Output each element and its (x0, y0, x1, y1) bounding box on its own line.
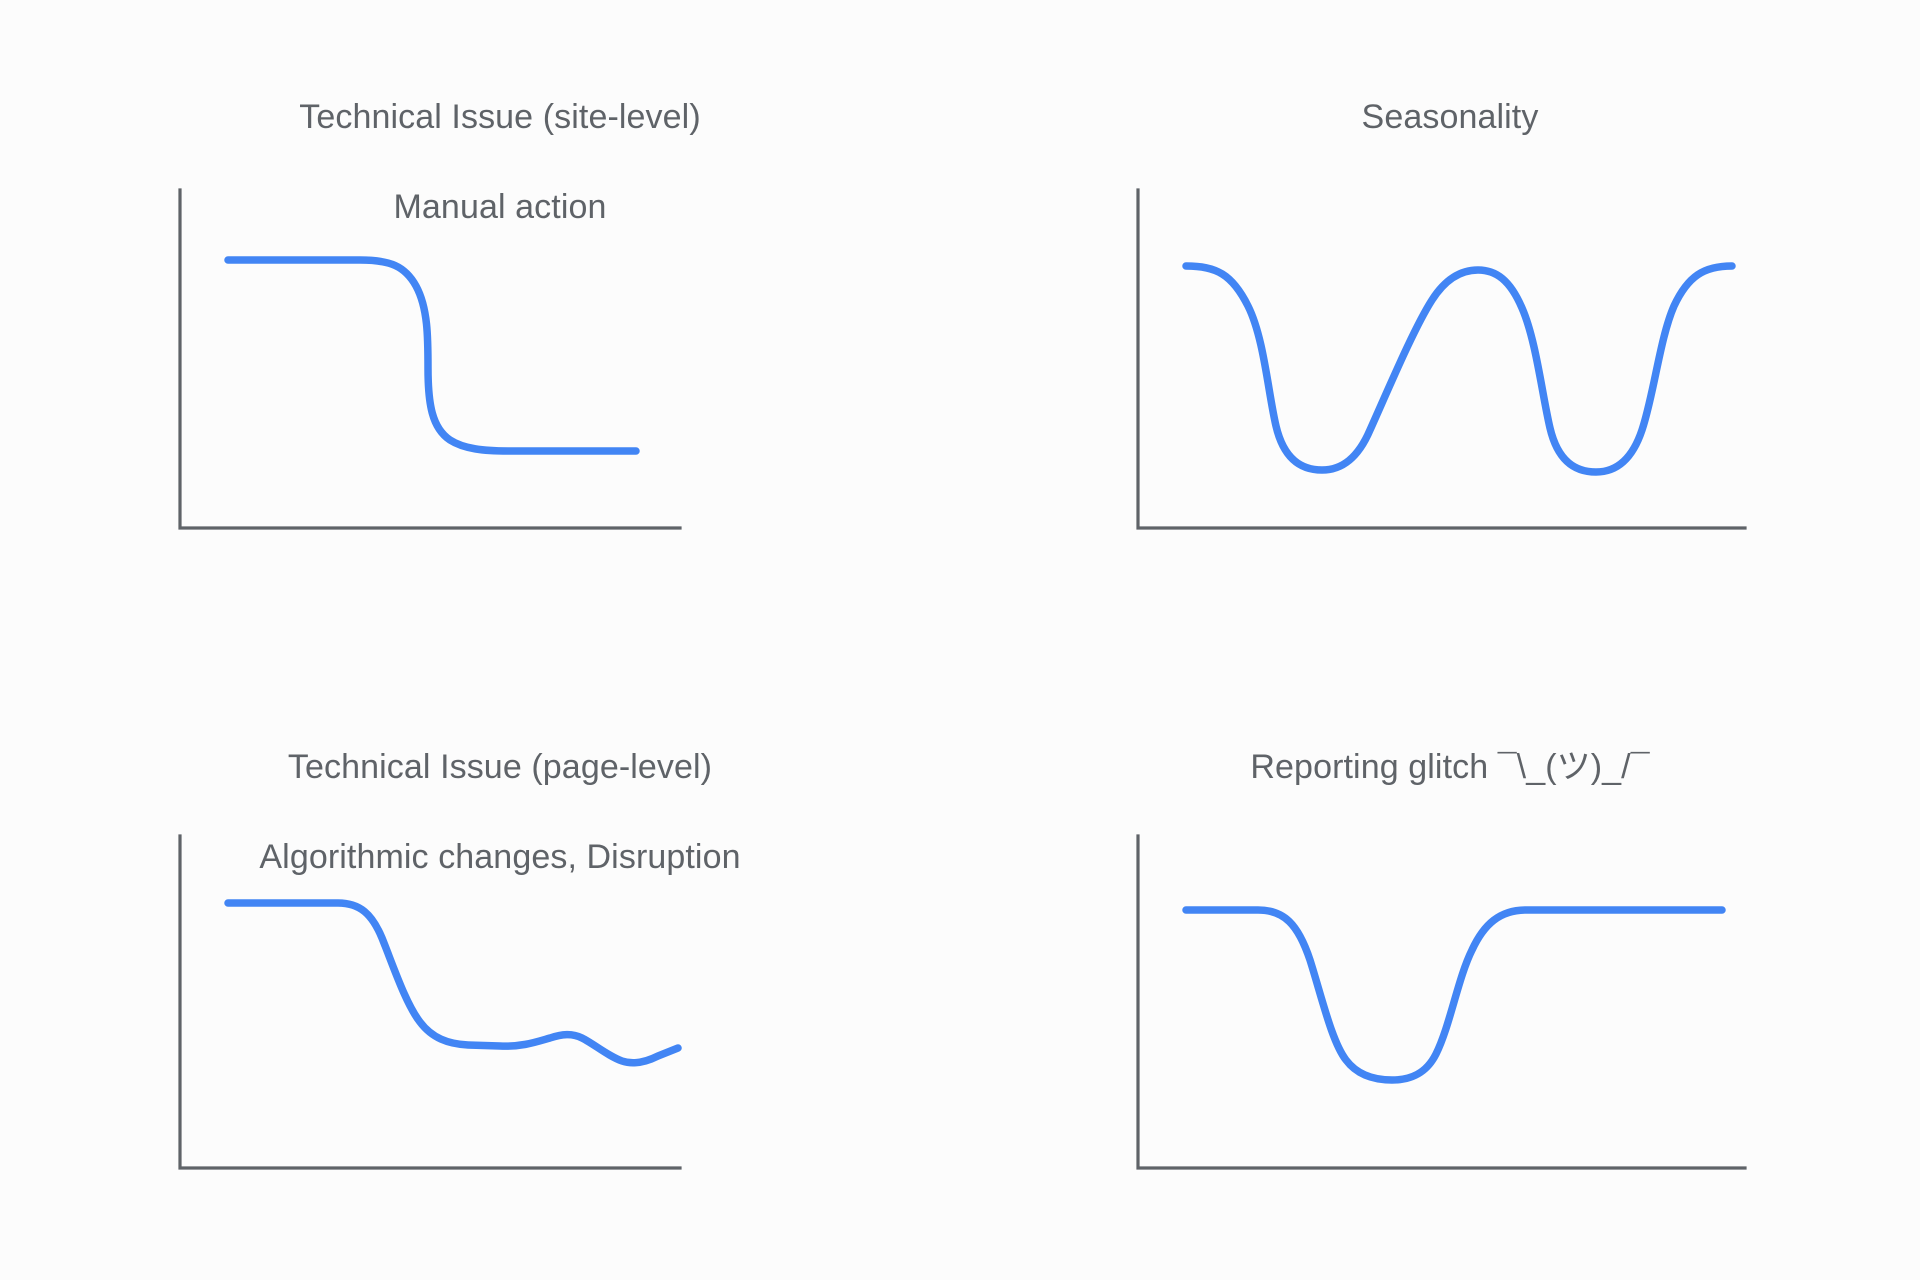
axis-lines (1138, 190, 1745, 528)
chart-svg-technical-site (60, 178, 940, 578)
panel-reporting-glitch: Reporting glitch ¯\_(ツ)_/¯ (1010, 700, 1890, 1240)
panel-title-line-1: Technical Issue (site-level) (60, 95, 940, 140)
chart-svg-reporting-glitch (1010, 828, 1890, 1228)
chart-technical-site (60, 178, 940, 578)
panel-title-technical-site: Technical Issue (site-level) Manual acti… (60, 50, 940, 170)
series-line-organic-traffic (1186, 910, 1722, 1080)
chart-technical-page (60, 828, 940, 1228)
panel-seasonality: Seasonality (1010, 50, 1890, 590)
chart-reporting-glitch (1010, 828, 1890, 1228)
axis-lines (180, 836, 680, 1168)
panel-title-technical-page: Technical Issue (page-level) Algorithmic… (60, 700, 940, 820)
axes-reporting-glitch (1138, 836, 1745, 1168)
chart-svg-technical-page (60, 828, 940, 1228)
series-line-organic-traffic (228, 903, 678, 1063)
panel-title-seasonality: Seasonality (1010, 50, 1890, 170)
axes-seasonality (1138, 190, 1745, 528)
chart-seasonality (1010, 178, 1890, 578)
panel-title-line-1: Technical Issue (page-level) (60, 745, 940, 790)
panel-technical-issue-page-level: Technical Issue (page-level) Algorithmic… (60, 700, 940, 1240)
panel-title-reporting-glitch: Reporting glitch ¯\_(ツ)_/¯ (1010, 700, 1890, 820)
panel-technical-issue-site-level: Technical Issue (site-level) Manual acti… (60, 50, 940, 590)
series-line-organic-traffic (228, 260, 636, 451)
axis-lines (1138, 836, 1745, 1168)
axes-technical-page (180, 836, 680, 1168)
panel-title-line-1: Seasonality (1010, 95, 1890, 140)
series-line-organic-traffic (1186, 266, 1732, 472)
diagram-canvas: Technical Issue (site-level) Manual acti… (0, 0, 1920, 1280)
panel-title-line-1: Reporting glitch ¯\_(ツ)_/¯ (1010, 745, 1890, 790)
chart-svg-seasonality (1010, 178, 1890, 578)
